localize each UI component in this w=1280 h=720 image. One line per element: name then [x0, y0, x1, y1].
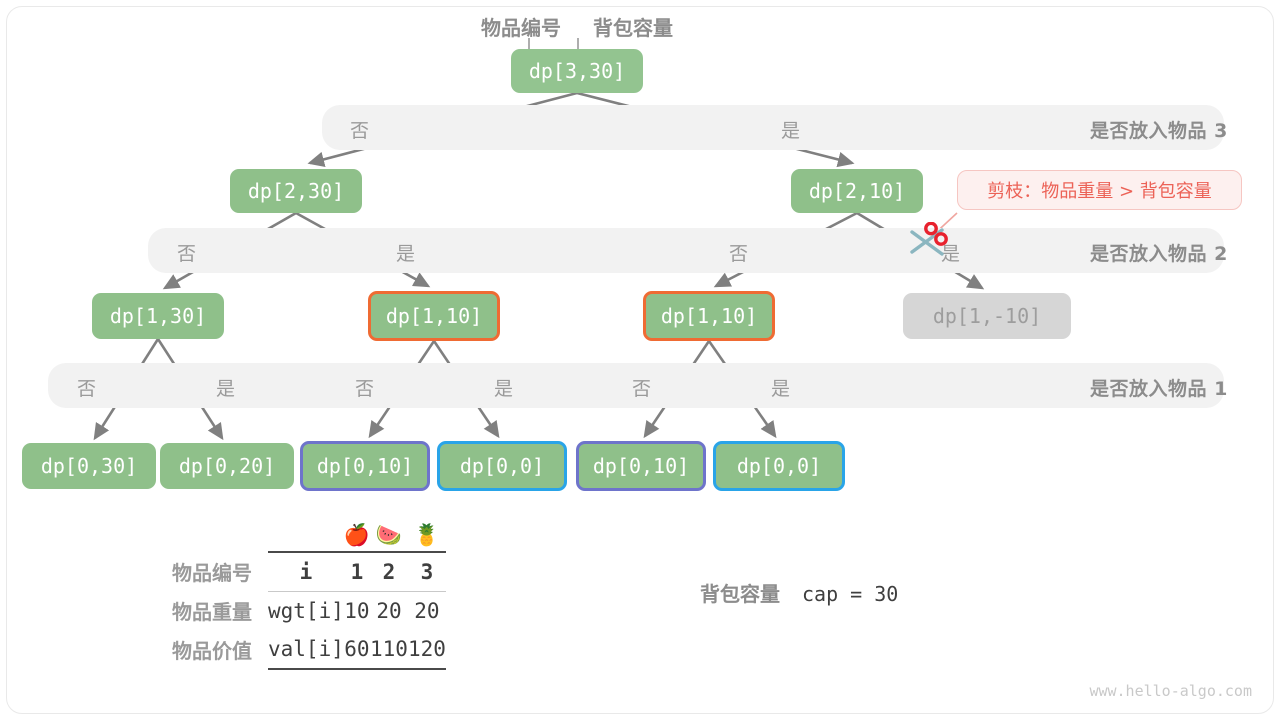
table-row-index: 物品编号 i 1 2 3	[172, 552, 446, 591]
tree-leaf-dp0-0-b[interactable]: dp[0,0]	[713, 441, 845, 491]
tree-node-l2-dp1-neg10-pruned[interactable]: dp[1,-10]	[903, 293, 1071, 339]
band-label-level-3-yes-c: 是	[771, 374, 790, 401]
pineapple-icon: 🍍	[408, 520, 446, 552]
table-rowhead-item-value: 物品价值	[172, 630, 268, 669]
band-label-level-3-yes-b: 是	[494, 374, 513, 401]
band-level-1	[322, 105, 1224, 150]
scissors-icon	[908, 222, 952, 262]
table-cell-i-label: i	[268, 552, 344, 591]
table-cell-wgt-label: wgt[i]	[268, 591, 344, 630]
band-title-level-3: 是否放入物品 1	[1090, 374, 1228, 401]
band-label-level-2-yes-a: 是	[396, 239, 415, 266]
band-label-level-2-no-b: 否	[729, 239, 748, 266]
band-label-level-2-no-a: 否	[177, 239, 196, 266]
table-rowhead-item-weight: 物品重量	[172, 591, 268, 630]
table-row-weight: 物品重量 wgt[i] 10 20 20	[172, 591, 446, 630]
table-cell-val-label: val[i]	[268, 630, 344, 669]
table-cell-val-2: 110	[370, 630, 408, 669]
band-label-level-1-yes: 是	[781, 116, 800, 143]
diagram-canvas: 是否放入物品 3 否 是 是否放入物品 2 否 是 否 是 是否放入物品 1 否…	[0, 0, 1280, 720]
table-cell-i-2: 2	[370, 552, 408, 591]
table-cell-i-1: 1	[344, 552, 370, 591]
caption-knapsack-capacity: 背包容量	[593, 12, 673, 41]
band-label-level-1-no: 否	[350, 116, 369, 143]
band-title-level-2: 是否放入物品 2	[1090, 239, 1228, 266]
band-label-level-3-no-a: 否	[77, 374, 96, 401]
band-label-level-3-yes-a: 是	[216, 374, 235, 401]
watermark: www.hello-algo.com	[1089, 682, 1252, 700]
table-cell-wgt-1: 10	[344, 591, 370, 630]
capacity-note-label: 背包容量	[700, 582, 780, 606]
tree-leaf-dp0-20[interactable]: dp[0,20]	[160, 443, 294, 489]
tree-leaf-dp0-10-a[interactable]: dp[0,10]	[300, 441, 430, 491]
watermelon-icon: 🍉	[370, 520, 408, 552]
prune-callout: 剪枝：物品重量 > 背包容量	[957, 170, 1242, 210]
tree-leaf-dp0-30[interactable]: dp[0,30]	[22, 443, 156, 489]
tree-node-l2-dp1-10-right[interactable]: dp[1,10]	[643, 291, 775, 341]
table-row-value: 物品价值 val[i] 60 110 120	[172, 630, 446, 669]
table-cell-wgt-3: 20	[408, 591, 446, 630]
tree-node-l1-dp2-10[interactable]: dp[2,10]	[791, 169, 923, 213]
band-level-2	[148, 228, 1224, 273]
caption-item-index: 物品编号	[481, 12, 561, 41]
table-cell-wgt-2: 20	[370, 591, 408, 630]
capacity-note: 背包容量cap = 30	[700, 578, 898, 607]
band-title-level-1: 是否放入物品 3	[1090, 116, 1228, 143]
table-cell-val-1: 60	[344, 630, 370, 669]
tree-node-l2-dp1-10-left[interactable]: dp[1,10]	[368, 291, 500, 341]
table-emoji-blank	[268, 520, 344, 552]
tree-leaf-dp0-0-a[interactable]: dp[0,0]	[437, 441, 567, 491]
band-label-level-3-no-c: 否	[632, 374, 651, 401]
capacity-note-value: cap = 30	[802, 582, 898, 606]
tree-node-l1-dp2-30[interactable]: dp[2,30]	[230, 169, 362, 213]
table-cell-val-3: 120	[408, 630, 446, 669]
table-emoji-rowhead	[172, 520, 268, 552]
items-table: 🍎 🍉 🍍 物品编号 i 1 2 3 物品重量 wgt[i] 10 20 20 …	[172, 520, 672, 670]
band-label-level-3-no-b: 否	[355, 374, 374, 401]
table-row-emoji: 🍎 🍉 🍍	[172, 520, 446, 552]
apple-icon: 🍎	[344, 520, 370, 552]
tree-node-l2-dp1-30[interactable]: dp[1,30]	[92, 293, 224, 339]
table-cell-i-3: 3	[408, 552, 446, 591]
tree-leaf-dp0-10-b[interactable]: dp[0,10]	[576, 441, 706, 491]
table-rowhead-item-index: 物品编号	[172, 552, 268, 591]
tree-node-root[interactable]: dp[3,30]	[511, 49, 643, 93]
